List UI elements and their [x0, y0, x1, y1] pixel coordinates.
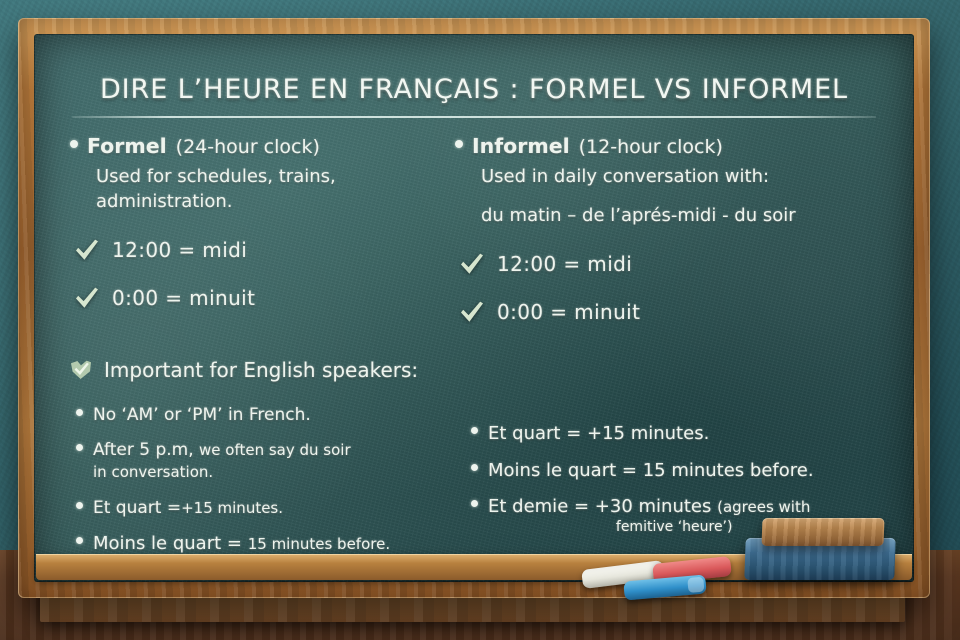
check-icon: [459, 252, 485, 276]
chalkboard: DIRE L’HEURE EN FRANÇAIS : FORMEL VS INF…: [34, 34, 914, 582]
formel-check-text-1: 12:00 = midi: [112, 238, 247, 262]
important-heading-row: Important for English speakers:: [70, 358, 888, 382]
board-content: DIRE L’HEURE EN FRANÇAIS : FORMEL VS INF…: [34, 34, 914, 582]
formel-check-text-2: 0:00 = minuit: [112, 286, 255, 310]
informel-check-text-2: 0:00 = minuit: [497, 300, 640, 324]
formel-check-row-2: 0:00 = minuit: [70, 286, 445, 310]
bullet-dot-icon: [76, 502, 83, 509]
list-item-small: we often say du soir: [199, 441, 351, 459]
formel-heading: Formel: [87, 134, 167, 158]
bullet-dot-icon: [455, 140, 463, 148]
list-item-text: After 5 p.m, we often say du soir in con…: [93, 439, 351, 483]
list-item: Moins le quart = 15 minutes before.: [471, 459, 888, 482]
important-left-list: No ‘AM’ or ‘PM’ in French. After 5 p.m, …: [70, 391, 455, 555]
formel-check-row-1: 12:00 = midi: [70, 238, 445, 262]
formel-heading-row: Formel (24-hour clock): [70, 134, 445, 158]
list-item-text: Et quart =+15 minutes.: [93, 497, 283, 519]
informel-heading-sub: (12-hour clock): [579, 136, 723, 158]
list-item-small: +15 minutes.: [181, 499, 283, 517]
bullet-dot-icon: [471, 500, 478, 507]
check-icon: [459, 300, 485, 324]
informel-heading: Informel: [472, 134, 570, 158]
check-icon: [74, 286, 100, 310]
list-item-main: Et quart =: [93, 498, 181, 518]
list-item: No ‘AM’ or ‘PM’ in French.: [76, 404, 455, 426]
list-item-main: After 5 p.m,: [93, 440, 194, 460]
list-item-small: 15 minutes before.: [248, 535, 390, 553]
main-columns: Formel (24-hour clock) Used for schedule…: [60, 134, 888, 324]
list-item-main: Moins le quart =: [93, 533, 242, 554]
informel-check-text-1: 12:00 = midi: [497, 252, 632, 276]
list-item-text: Moins le quart = 15 minutes before.: [93, 532, 390, 555]
list-item-main: Et demie = +30 minutes: [488, 496, 711, 517]
informel-check-row-1: 12:00 = midi: [455, 252, 888, 276]
informel-check-row-2: 0:00 = minuit: [455, 300, 888, 324]
important-title: Important for English speakers:: [104, 358, 418, 382]
list-item: Et quart = +15 minutes.: [471, 422, 888, 445]
informel-body-line-2: du matin – de l’aprés-midi - du soir: [455, 204, 888, 228]
tan-eraser: [762, 518, 885, 546]
list-item: After 5 p.m, we often say du soir in con…: [76, 439, 455, 483]
list-item-text: Et quart = +15 minutes.: [488, 422, 709, 445]
formel-body-line-1: Used for schedules, trains,: [70, 165, 445, 189]
bullet-dot-icon: [471, 427, 478, 434]
column-formel: Formel (24-hour clock) Used for schedule…: [60, 134, 445, 324]
title-block: DIRE L’HEURE EN FRANÇAIS : FORMEL VS INF…: [60, 34, 888, 118]
list-item-paren: (agrees with: [717, 498, 810, 516]
column-informel: Informel (12-hour clock) Used in daily c…: [445, 134, 888, 324]
bullet-dot-icon: [471, 464, 478, 471]
list-item-cont: in conversation.: [93, 463, 213, 481]
chalkboard-frame: DIRE L’HEURE EN FRANÇAIS : FORMEL VS INF…: [18, 18, 930, 598]
bullet-dot-icon: [76, 444, 83, 451]
bullet-dot-icon: [70, 140, 78, 148]
informel-heading-row: Informel (12-hour clock): [455, 134, 888, 158]
bullet-dot-icon: [76, 409, 83, 416]
list-item-text: Moins le quart = 15 minutes before.: [488, 459, 814, 482]
list-item-text: No ‘AM’ or ‘PM’ in French.: [93, 404, 311, 426]
title-underline: [72, 116, 876, 118]
badge-check-icon: [70, 360, 92, 380]
bullet-dot-icon: [76, 537, 83, 544]
page-title: DIRE L’HEURE EN FRANÇAIS : FORMEL VS INF…: [60, 74, 888, 105]
formel-body-line-2: administration.: [70, 190, 445, 214]
check-icon: [74, 238, 100, 262]
formel-heading-sub: (24-hour clock): [176, 136, 320, 158]
list-item: Moins le quart = 15 minutes before.: [76, 532, 455, 555]
list-item: Et quart =+15 minutes.: [76, 497, 455, 519]
informel-body-line-1: Used in daily conversation with:: [455, 165, 888, 189]
